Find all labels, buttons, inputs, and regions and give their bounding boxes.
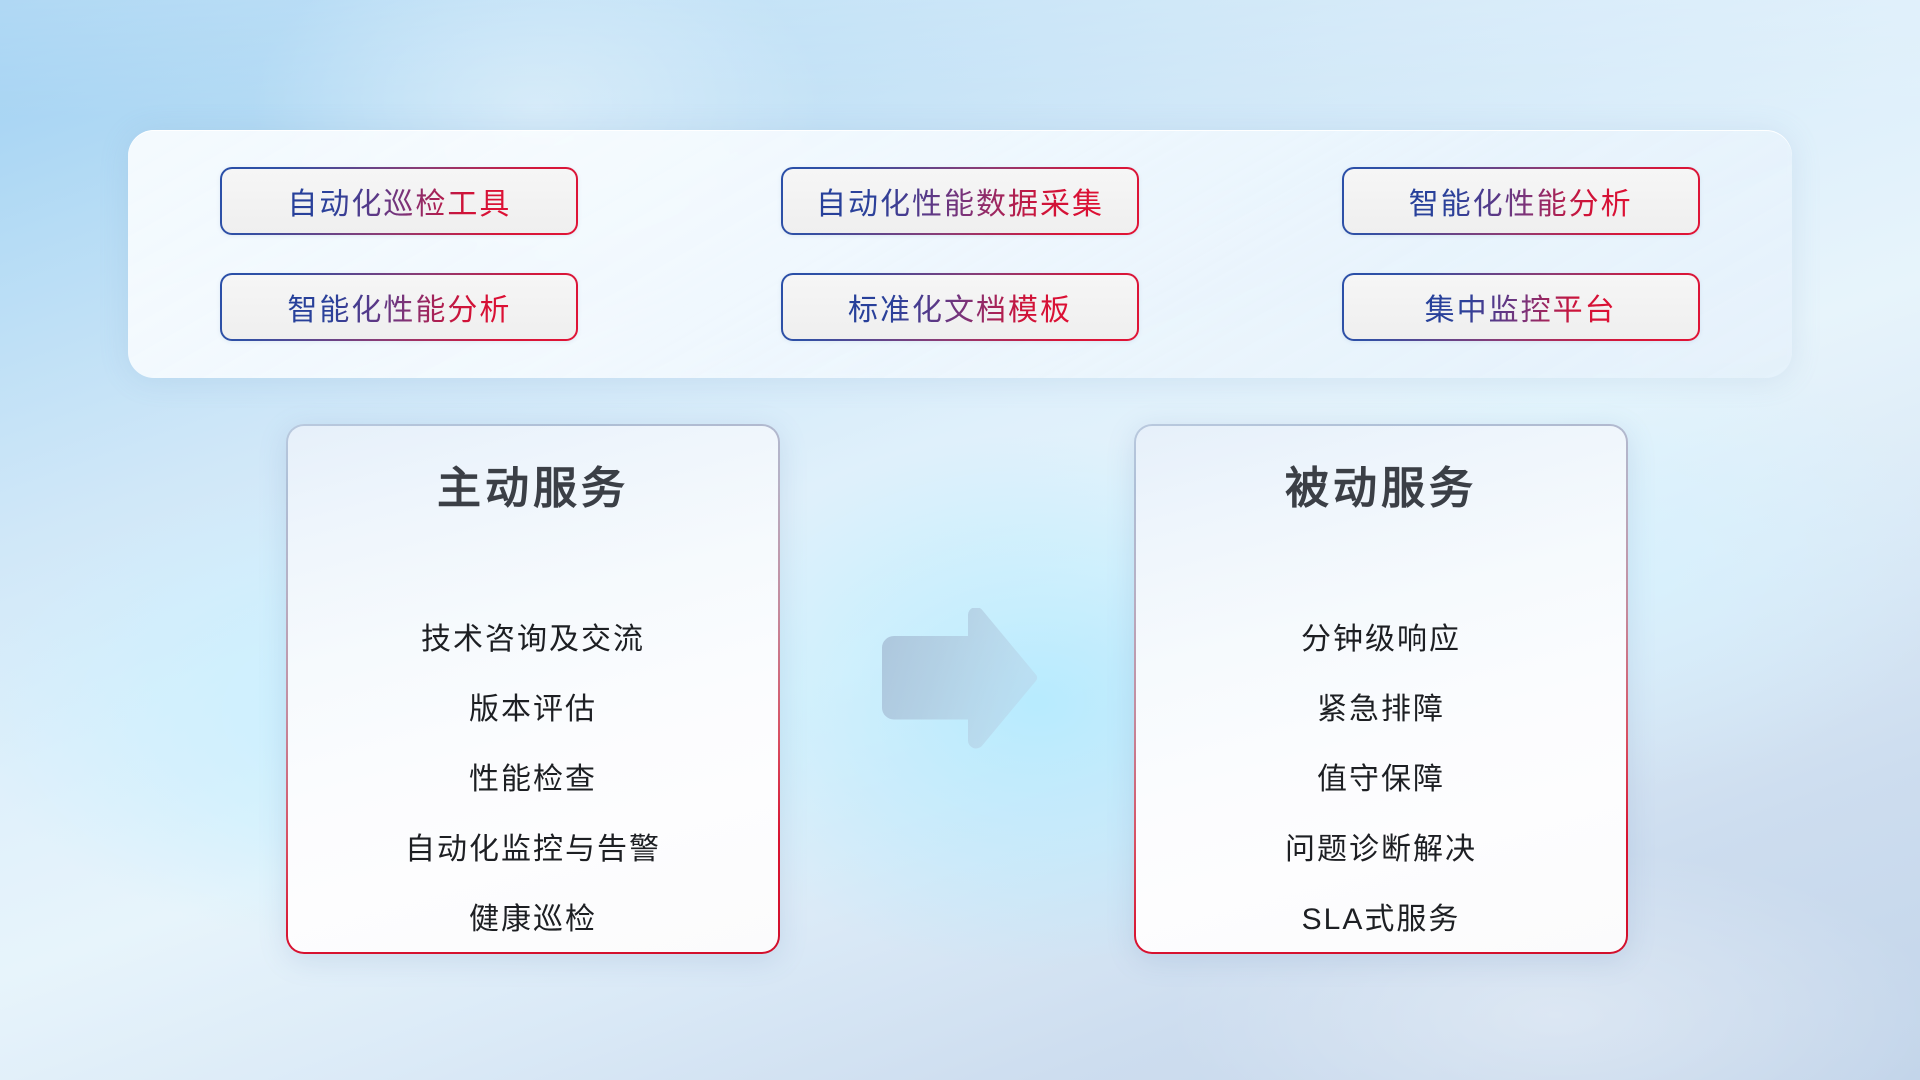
capability-tag[interactable]: 自动化性能数据采集	[781, 167, 1139, 235]
active-service-card: 主动服务 技术咨询及交流 版本评估 性能检查 自动化监控与告警 健康巡检	[286, 424, 780, 954]
capability-tag-cell: 集中监控平台	[1305, 266, 1736, 348]
active-service-card-title: 主动服务	[437, 464, 629, 515]
capability-tag-label: 自动化巡检工具	[287, 179, 511, 223]
active-service-list: 技术咨询及交流 版本评估 性能检查 自动化监控与告警 健康巡检	[322, 605, 744, 955]
capability-tag-label: 智能化性能分析	[287, 285, 511, 329]
capability-tag-cell: 智能化性能分析	[184, 266, 615, 348]
capability-tag-surface: 智能化性能分析	[1344, 169, 1698, 233]
capability-tag-label: 集中监控平台	[1425, 285, 1617, 329]
list-item[interactable]: SLA式服务	[1302, 885, 1461, 955]
passive-service-card-title: 被动服务	[1285, 464, 1477, 515]
capability-tag-label: 标准化文档模板	[848, 285, 1072, 329]
passive-service-card-surface: 被动服务 分钟级响应 紧急排障 值守保障 问题诊断解决 SLA式服务	[1136, 426, 1626, 952]
passive-service-list: 分钟级响应 紧急排障 值守保障 问题诊断解决 SLA式服务	[1170, 605, 1592, 955]
capability-tag[interactable]: 自动化巡检工具	[220, 167, 578, 235]
list-item[interactable]: 版本评估	[469, 675, 597, 745]
list-item[interactable]: 分钟级响应	[1301, 605, 1461, 675]
capability-tag-cell: 自动化巡检工具	[184, 160, 615, 242]
list-item[interactable]: 技术咨询及交流	[421, 605, 645, 675]
capability-tag-grid: 自动化巡检工具 自动化性能数据采集 智能化性能分析 智能化性能分析	[184, 160, 1736, 348]
capability-tag-label: 智能化性能分析	[1409, 179, 1633, 223]
capability-tag-surface: 智能化性能分析	[222, 275, 576, 339]
capability-tag-cell: 标准化文档模板	[745, 266, 1176, 348]
passive-service-card: 被动服务 分钟级响应 紧急排障 值守保障 问题诊断解决 SLA式服务	[1134, 424, 1628, 954]
list-item[interactable]: 健康巡检	[469, 885, 597, 955]
list-item[interactable]: 值守保障	[1317, 745, 1445, 815]
capability-tag[interactable]: 集中监控平台	[1342, 273, 1700, 341]
capability-tag-surface: 自动化巡检工具	[222, 169, 576, 233]
capability-tag-cell: 智能化性能分析	[1305, 160, 1736, 242]
capability-tag-surface: 标准化文档模板	[783, 275, 1137, 339]
arrow-right-icon	[872, 608, 1042, 758]
capability-tag-surface: 自动化性能数据采集	[783, 169, 1137, 233]
list-item[interactable]: 自动化监控与告警	[405, 815, 661, 885]
list-item[interactable]: 紧急排障	[1317, 675, 1445, 745]
list-item[interactable]: 性能检查	[469, 745, 597, 815]
capability-tag-surface: 集中监控平台	[1344, 275, 1698, 339]
capability-tags-panel: 自动化巡检工具 自动化性能数据采集 智能化性能分析 智能化性能分析	[128, 130, 1792, 378]
active-service-card-surface: 主动服务 技术咨询及交流 版本评估 性能检查 自动化监控与告警 健康巡检	[288, 426, 778, 952]
background-sheen	[0, 0, 1920, 119]
capability-tag[interactable]: 智能化性能分析	[220, 273, 578, 341]
capability-tag-label: 自动化性能数据采集	[816, 179, 1104, 223]
capability-tag[interactable]: 智能化性能分析	[1342, 167, 1700, 235]
capability-tag[interactable]: 标准化文档模板	[781, 273, 1139, 341]
capability-tag-cell: 自动化性能数据采集	[745, 160, 1176, 242]
list-item[interactable]: 问题诊断解决	[1285, 815, 1477, 885]
